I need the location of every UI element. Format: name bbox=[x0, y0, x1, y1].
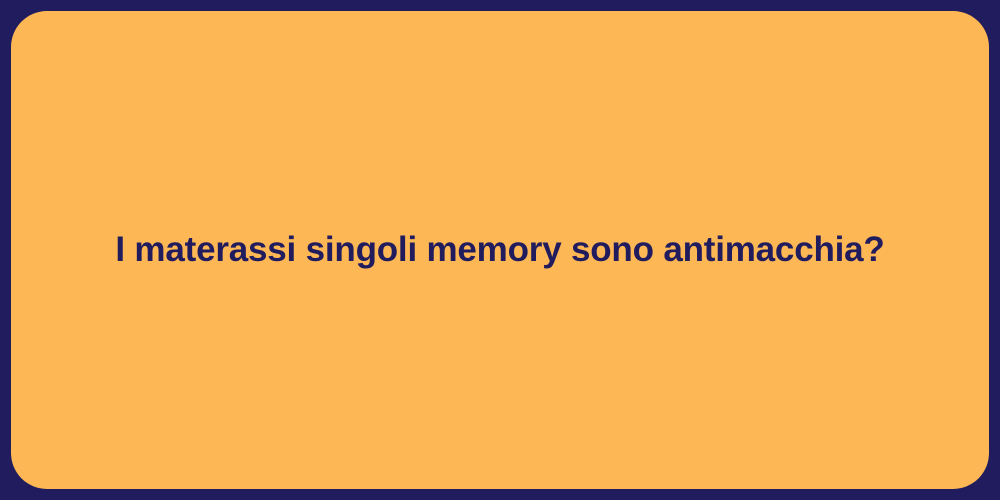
question-card: I materassi singoli memory sono antimacc… bbox=[11, 11, 989, 489]
page-title: I materassi singoli memory sono antimacc… bbox=[75, 228, 924, 272]
page-background: I materassi singoli memory sono antimacc… bbox=[0, 0, 1000, 500]
